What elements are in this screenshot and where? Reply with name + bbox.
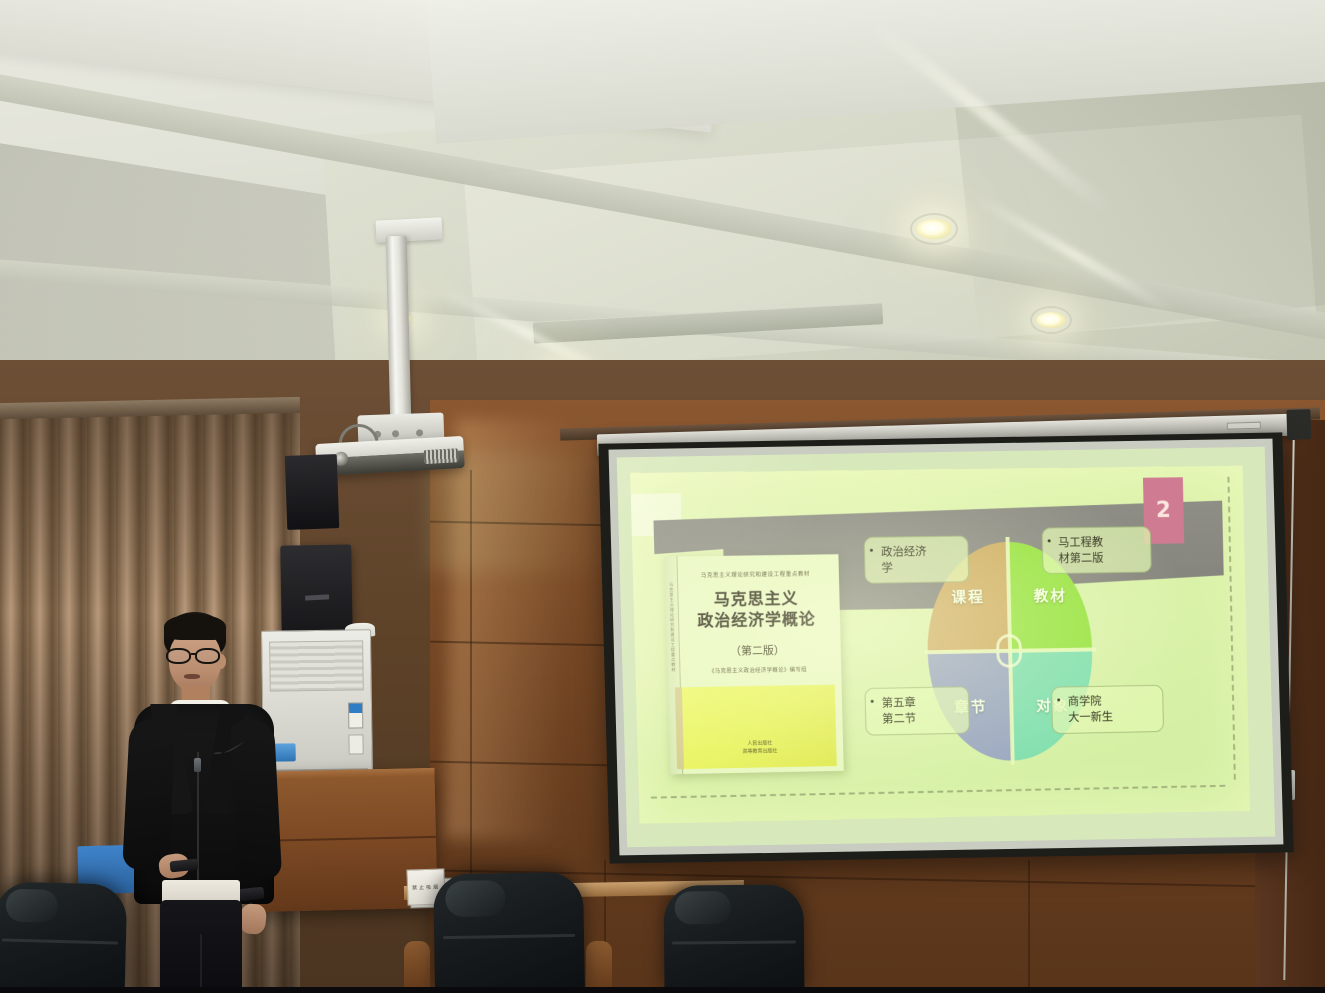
mount-knob	[392, 430, 399, 437]
book-title-line-1: 马克思主义	[683, 587, 829, 610]
callout-course-text: 政治经济 学	[874, 543, 960, 576]
desk-sign-text: 禁止吸烟	[412, 884, 440, 892]
callout-audience: 商学院 大一新生	[1051, 684, 1164, 733]
panel-seam-vertical	[1028, 860, 1030, 993]
callout-chapter: 第五章 第二节	[865, 686, 970, 735]
publisher-2: 高等教育出版社	[743, 747, 778, 756]
bullet-icon	[1047, 539, 1050, 542]
zipper-pull	[194, 758, 201, 772]
lecture-hall-photo: 2 马克思主义理论研究和建设工程重点教材 马克思主义理论研究和建设工程重点教材 …	[0, 0, 1325, 993]
chair-highlight	[675, 891, 731, 924]
mount-knob	[416, 429, 423, 436]
textbook-cover-image: 马克思主义理论研究和建设工程重点教材 马克思主义理论研究和建设工程重点教材 马克…	[665, 554, 844, 774]
chair-seam	[2, 939, 118, 945]
screen-border: 2 马克思主义理论研究和建设工程重点教材 马克思主义理论研究和建设工程重点教材 …	[609, 439, 1284, 856]
screen-surface: 2 马克思主义理论研究和建设工程重点教材 马克思主义理论研究和建设工程重点教材 …	[617, 447, 1275, 848]
presenter	[112, 612, 292, 993]
presenter-arm-left	[122, 719, 176, 871]
lens-right	[195, 648, 220, 664]
downlight-1	[916, 219, 952, 239]
callout-audience-text: 商学院 大一新生	[1061, 692, 1155, 725]
circular-arrows-icon	[995, 634, 1025, 668]
book-spine-text: 马克思主义理论研究和建设工程重点教材	[668, 582, 676, 672]
arc-lower	[997, 651, 1023, 667]
bullet-icon	[871, 700, 874, 703]
chair-highlight	[445, 880, 506, 917]
wheel-label-textbook: 教材	[1033, 585, 1067, 606]
bullet-icon	[1057, 698, 1060, 701]
warning-label-sticker	[348, 734, 363, 754]
slide-dashed-border-right	[1228, 476, 1236, 780]
speaker-logo-icon	[305, 595, 329, 601]
publisher-1: 人民出版社	[742, 739, 777, 748]
projection-screen: 2 马克思主义理论研究和建设工程重点教材 马克思主义理论研究和建设工程重点教材 …	[598, 432, 1293, 863]
chair-armrest-right	[586, 941, 612, 993]
book-publishers: 人民出版社 高等教育出版社	[742, 739, 777, 757]
housing-label	[1227, 422, 1261, 430]
arc-upper	[996, 634, 1022, 650]
trouser-seam	[200, 934, 202, 993]
chair-center[interactable]	[433, 872, 585, 993]
downlight-2	[1036, 312, 1066, 328]
downlight-ring	[1030, 306, 1072, 334]
callout-textbook-text: 马工程教 材第二版	[1051, 533, 1142, 566]
wall-monitor	[285, 454, 340, 530]
floor-shadow	[0, 987, 1325, 993]
lens-left	[166, 648, 191, 664]
callout-course: 政治经济 学	[864, 535, 969, 584]
projector-vent	[424, 448, 459, 464]
book-title: 马克思主义 政治经济学概论	[683, 587, 829, 631]
presenter-hand-right	[239, 903, 268, 935]
book-lower-panel: 人民出版社 高等教育出版社	[675, 684, 836, 769]
eyeglasses-icon	[166, 648, 226, 664]
energy-label-sticker	[348, 702, 363, 728]
chair-right[interactable]	[664, 884, 805, 993]
wood-highlight	[445, 419, 576, 842]
chair-highlight	[5, 888, 59, 922]
book-series-line: 马克思主义理论研究和建设工程重点教材	[686, 569, 825, 579]
callout-textbook: 马工程教 材第二版	[1041, 525, 1151, 574]
bullet-icon	[870, 548, 873, 551]
chair-seam	[672, 941, 795, 945]
presenter-fringe	[164, 614, 226, 640]
presenter-mouth	[184, 674, 200, 679]
chair-armrest-left	[404, 941, 430, 993]
book-byline: 《马克思主义政治经济学概论》编写组	[685, 665, 830, 675]
nike-swoosh-icon	[212, 740, 246, 756]
slide-dashed-border-bottom	[651, 785, 1225, 799]
wheel-label-course: 课程	[951, 586, 985, 607]
chair-left[interactable]	[0, 881, 127, 993]
book-title-line-2: 政治经济学概论	[684, 608, 830, 631]
book-edition: （第二版）	[684, 641, 830, 659]
downlight-ring	[910, 213, 958, 245]
chair-seam	[443, 934, 575, 939]
projected-slide: 2 马克思主义理论研究和建设工程重点教材 马克思主义理论研究和建设工程重点教材 …	[630, 465, 1250, 823]
housing-bracket	[1286, 409, 1311, 440]
callout-chapter-text: 第五章 第二节	[875, 694, 961, 727]
